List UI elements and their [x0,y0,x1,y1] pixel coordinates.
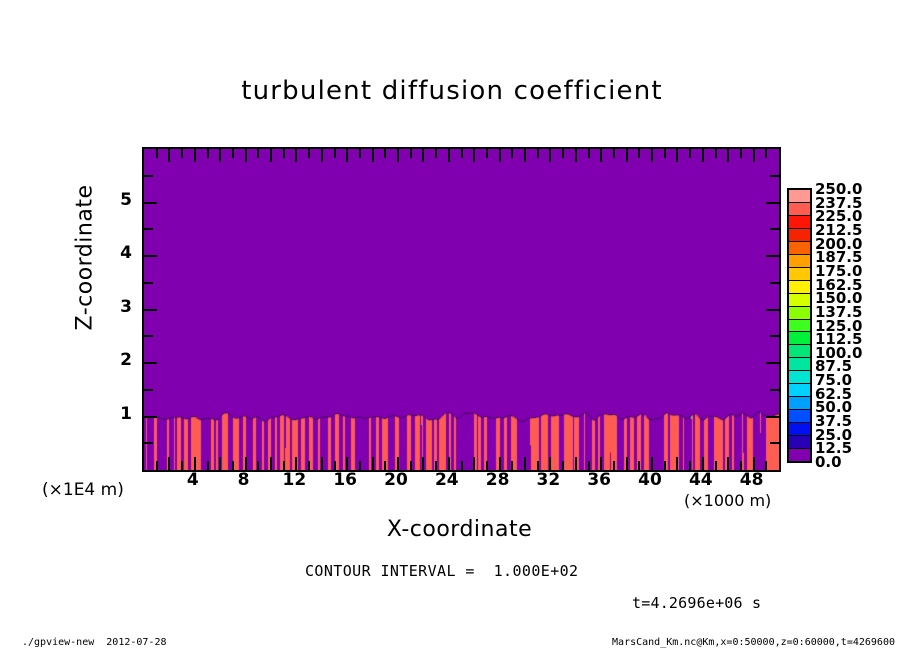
x-tick-bottom [410,461,412,470]
x-tick-top [600,149,602,162]
x-tick-top [562,149,564,158]
colorbar-band [789,229,810,242]
y-tick-right [766,416,779,418]
x-tick-bottom [588,461,590,470]
x-tick-label: 4 [171,470,215,490]
x-tick-top [422,149,424,162]
y-tick-left [144,228,153,230]
x-tick-top [765,149,767,158]
colorbar-band [789,423,810,436]
x-tick-top [549,149,551,162]
x-tick-top [219,149,221,162]
x-tick-bottom [283,461,285,470]
x-tick-label: 24 [425,470,469,490]
y-tick-left [144,282,153,284]
colorbar-band [789,397,810,410]
x-tick-top [588,149,590,158]
x-tick-top [245,149,247,162]
x-tick-bottom [562,461,564,470]
colorbar-tick-label: 0.0 [815,455,842,470]
x-tick-top [702,149,704,162]
y-tick-left [144,175,153,177]
x-tick-top [575,149,577,162]
x-tick-top [651,149,653,162]
x-tick-label: 8 [222,470,266,490]
colorbar [787,188,812,463]
x-tick-top [384,149,386,158]
x-tick-top [321,149,323,162]
x-tick-bottom [664,461,666,470]
x-tick-top [168,149,170,162]
x-tick-top [613,149,615,158]
x-tick-bottom [219,457,221,470]
x-tick-bottom [372,457,374,470]
x-tick-top [181,149,183,158]
x-tick-top [473,149,475,162]
x-tick-bottom [168,457,170,470]
x-tick-bottom [765,461,767,470]
y-tick-left [144,255,157,257]
x-tick-bottom [651,457,653,470]
x-tick-bottom [689,461,691,470]
y-tick-label: 2 [100,350,132,370]
x-tick-top [486,149,488,158]
x-axis-units: (×1000 m) [684,491,771,510]
colorbar-band [789,281,810,294]
x-tick-top [676,149,678,162]
x-tick-bottom [435,461,437,470]
x-tick-top [524,149,526,162]
x-tick-label: 40 [628,470,672,490]
x-axis-title: X-coordinate [142,517,777,542]
x-tick-bottom [359,461,361,470]
colorbar-band [789,216,810,229]
x-tick-bottom [334,461,336,470]
colorbar-band [789,436,810,449]
x-tick-bottom [156,461,158,470]
x-tick-top [461,149,463,158]
x-tick-bottom [702,457,704,470]
y-tick-left [144,362,157,364]
y-tick-right [766,309,779,311]
x-tick-top [270,149,272,162]
colorbar-band [789,358,810,371]
colorbar-band [789,307,810,320]
x-tick-label: 36 [577,470,621,490]
x-tick-bottom [473,457,475,470]
x-tick-label: 28 [476,470,520,490]
x-tick-top [499,149,501,162]
plot-area [142,147,781,472]
y-tick-right [766,202,779,204]
x-tick-bottom [626,457,628,470]
x-tick-top [257,149,259,158]
x-tick-bottom [676,457,678,470]
x-tick-bottom [346,457,348,470]
x-tick-bottom [461,461,463,470]
x-tick-bottom [245,457,247,470]
x-tick-bottom [397,457,399,470]
x-tick-top [334,149,336,158]
x-tick-bottom [181,461,183,470]
x-tick-top [194,149,196,162]
colorbar-band [789,190,810,203]
x-tick-bottom [270,457,272,470]
x-tick-top [537,149,539,158]
x-tick-top [638,149,640,158]
colorbar-band [789,203,810,216]
x-tick-top [308,149,310,158]
plot-page: turbulent diffusion coefficient Z-coordi… [0,0,904,654]
contour-field [144,149,779,470]
y-tick-label: 5 [100,190,132,210]
x-tick-label: 20 [374,470,418,490]
x-tick-bottom [295,457,297,470]
x-tick-top [295,149,297,162]
y-tick-label: 1 [100,404,132,424]
x-tick-bottom [638,461,640,470]
y-tick-right [770,228,779,230]
y-tick-left [144,335,153,337]
colorbar-band [789,255,810,268]
page-title: turbulent diffusion coefficient [0,76,904,106]
x-tick-top [727,149,729,162]
x-tick-top [232,149,234,158]
x-tick-bottom [715,461,717,470]
x-tick-top [511,149,513,158]
time-annotation: t=4.2696e+06 s [632,594,761,612]
y-tick-right [766,255,779,257]
y-tick-right [770,335,779,337]
y-tick-label: 3 [100,297,132,317]
colorbar-band [789,320,810,333]
x-tick-top [359,149,361,158]
x-tick-top [753,149,755,162]
x-tick-top [626,149,628,162]
contour-interval-annotation: CONTOUR INTERVAL = 1.000E+02 [305,562,579,580]
footer-source: MarsCand_Km.nc@Km,x=0:50000,z=0:60000,t=… [612,637,895,648]
x-tick-top [715,149,717,158]
x-tick-top [207,149,209,158]
x-tick-label: 48 [730,470,774,490]
x-tick-bottom [308,461,310,470]
x-tick-bottom [600,457,602,470]
x-tick-bottom [511,461,513,470]
x-tick-label: 16 [323,470,367,490]
y-tick-right [770,175,779,177]
colorbar-band [789,268,810,281]
colorbar-band [789,242,810,255]
x-tick-top [664,149,666,158]
x-tick-bottom [448,457,450,470]
x-tick-bottom [549,457,551,470]
x-tick-bottom [194,457,196,470]
x-tick-top [283,149,285,158]
y-tick-left [144,202,157,204]
y-tick-left [144,416,157,418]
y-tick-left [144,389,153,391]
x-tick-top [397,149,399,162]
x-tick-top [410,149,412,158]
x-tick-label: 44 [679,470,723,490]
x-tick-bottom [537,461,539,470]
colorbar-band [789,410,810,423]
colorbar-labels: 250.0237.5225.0212.5200.0187.5175.0162.5… [815,188,895,463]
x-tick-top [689,149,691,158]
colorbar-band [789,332,810,345]
y-tick-right [770,442,779,444]
x-tick-bottom [232,461,234,470]
x-tick-label: 12 [272,470,316,490]
colorbar-band [789,384,810,397]
colorbar-band [789,371,810,384]
x-tick-bottom [257,461,259,470]
y-tick-right [766,362,779,364]
x-tick-bottom [321,457,323,470]
colorbar-band [789,449,810,461]
y-tick-right [770,389,779,391]
footer-command: ./gpview-new 2012-07-28 [22,637,167,648]
x-tick-bottom [727,457,729,470]
x-tick-bottom [740,461,742,470]
y-tick-right [770,282,779,284]
x-tick-top [346,149,348,162]
x-tick-bottom [384,461,386,470]
x-tick-bottom [499,457,501,470]
x-tick-top [156,149,158,158]
x-tick-bottom [575,457,577,470]
x-tick-label: 32 [526,470,570,490]
x-tick-top [372,149,374,162]
x-tick-bottom [422,457,424,470]
colorbar-band [789,345,810,358]
x-tick-top [435,149,437,158]
x-tick-bottom [486,461,488,470]
x-tick-top [740,149,742,158]
x-tick-bottom [207,461,209,470]
y-tick-left [144,442,153,444]
x-tick-top [448,149,450,162]
x-tick-bottom [753,457,755,470]
y-tick-left [144,309,157,311]
y-axis-title: Z-coordinate [73,138,98,378]
y-tick-label: 4 [100,243,132,263]
colorbar-band [789,294,810,307]
x-tick-bottom [524,457,526,470]
x-tick-bottom [613,461,615,470]
y-axis-units: (×1E4 m) [42,480,124,500]
